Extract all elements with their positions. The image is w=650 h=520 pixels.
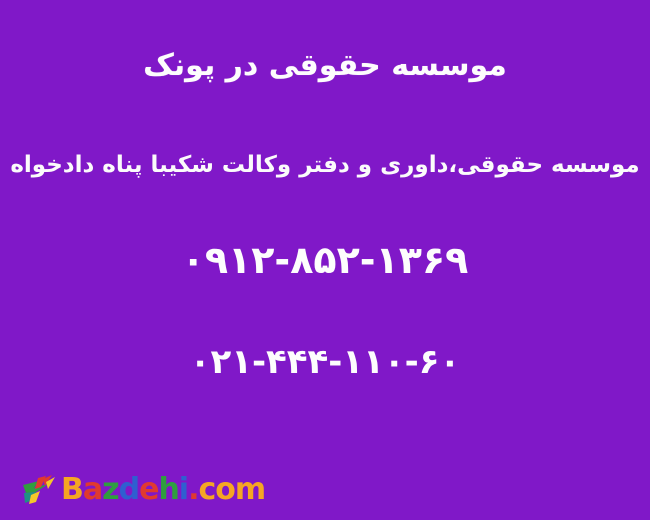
wm-letter: a	[83, 472, 102, 507]
wm-letter: m	[235, 472, 265, 507]
watermark-text: Bazdehi.com	[61, 475, 265, 505]
headline: موسسه حقوقی در پونک	[0, 46, 650, 86]
wm-letter: B	[61, 472, 83, 507]
wm-letter: h	[158, 472, 178, 507]
wm-letter: c	[199, 472, 216, 507]
wm-letter: d	[119, 472, 139, 507]
wm-letter: o	[215, 472, 235, 507]
wm-letter: e	[139, 472, 158, 507]
wm-letter: i	[179, 472, 188, 507]
bird-arrow-logo-icon	[22, 473, 60, 507]
wm-letter: z	[102, 472, 118, 507]
promo-banner: موسسه حقوقی در پونک موسسه حقوقی،داوری و …	[0, 0, 650, 520]
wm-letter: .	[188, 472, 198, 507]
phone-number-landline[interactable]: ۰۲۱-۴۴۴-۱۱۰-۶۰	[0, 338, 650, 386]
phone-number-mobile[interactable]: ۰۹۱۲-۸۵۲-۱۳۶۹	[0, 234, 650, 286]
site-watermark[interactable]: Bazdehi.com	[22, 468, 265, 512]
subheadline: موسسه حقوقی،داوری و دفتر وکالت شکیبا پنا…	[0, 148, 650, 182]
